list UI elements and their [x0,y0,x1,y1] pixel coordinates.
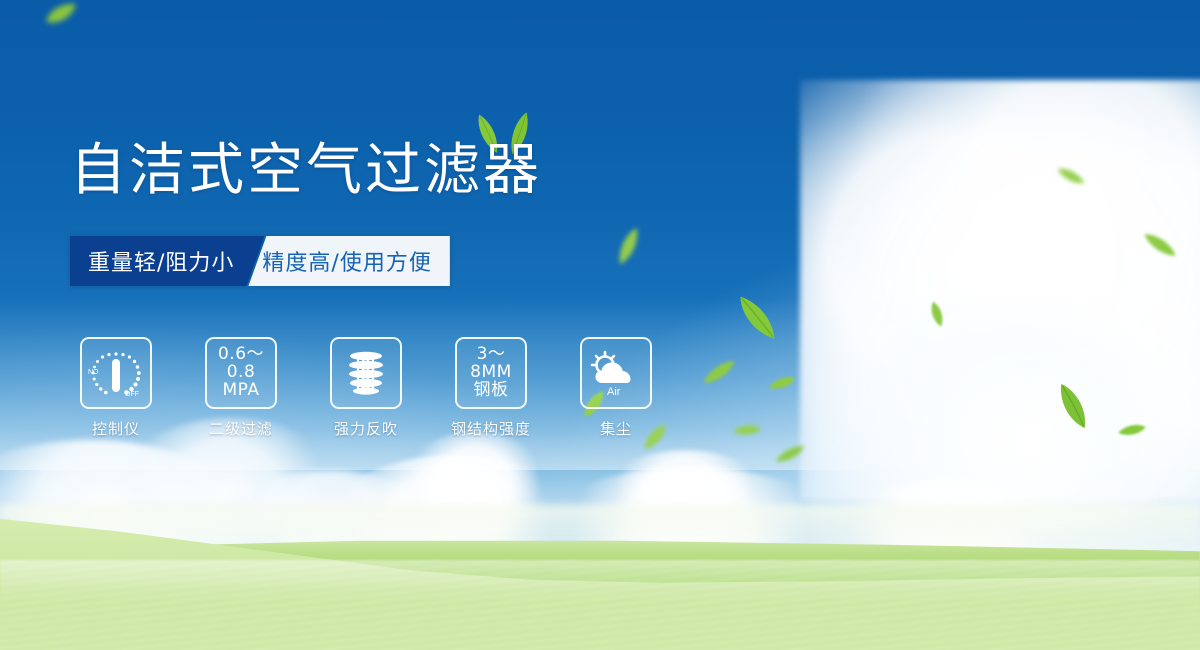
feature-item-secondary-filter[interactable]: 0.6～0.8 MPA 二级过滤 [205,337,277,439]
subtitle-bar: 重量轻/阻力小 精度高/使用方便 [70,236,450,286]
pressure-line-2: MPA [207,382,275,400]
feature-list: NO OFF 控制仪 0.6～0.8 MPA 二级过滤 [80,337,652,439]
page-title: 自洁式空气过滤器 [70,143,542,199]
feature-label: 二级过滤 [209,418,273,439]
pressure-line-1: 0.6～0.8 [207,346,275,382]
steel-line-2: 钢板 [457,382,525,400]
subtitle-left-segment: 重量轻/阻力小 [70,236,264,286]
feature-item-steel-strength[interactable]: 3～8MM 钢板 钢结构强度 [455,337,527,439]
feature-label: 控制仪 [92,418,140,439]
filter-cartridge-icon [330,337,402,409]
gauge-right-label: OFF [125,391,139,398]
grass-sheen [0,560,1200,650]
feature-item-dust-collection[interactable]: Air 集尘 [580,337,652,439]
steel-plate-text-icon: 3～8MM 钢板 [455,337,527,409]
feature-label: 钢结构强度 [451,418,531,439]
feature-item-controller[interactable]: NO OFF 控制仪 [80,337,152,439]
gauge-left-label: NO [88,369,99,376]
feature-label: 集尘 [600,418,632,439]
feature-label: 强力反吹 [334,418,398,439]
gauge-icon: NO OFF [80,337,152,409]
cloud-air-icon: Air [580,337,652,409]
feature-item-reverse-blow[interactable]: 强力反吹 [330,337,402,439]
steel-line-1: 3～8MM [457,346,525,382]
subtitle-right-segment: 精度高/使用方便 [248,236,449,286]
pressure-text-icon: 0.6～0.8 MPA [205,337,277,409]
product-banner: 自洁式空气过滤器 重量轻/阻力小 精度高/使用方便 [0,0,1200,650]
cloud-air-caption: Air [607,386,621,398]
